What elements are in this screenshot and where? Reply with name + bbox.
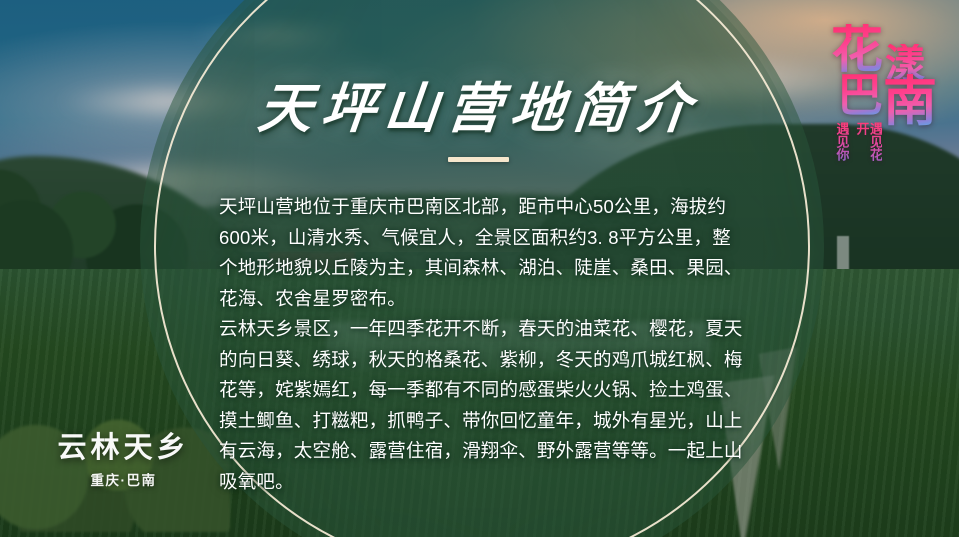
logo-subtitle-left: 遇见你	[835, 122, 849, 161]
page-title: 天坪山营地简介	[0, 64, 959, 143]
logo-char-nan: 南	[883, 74, 937, 128]
title-divider	[448, 157, 509, 162]
paragraph-2: 云林天乡景区，一年四季花开不断，春天的油菜花、樱花，夏天的向日葵、绣球，秋天的格…	[219, 314, 747, 497]
logo-subtitle-right: 遇见花开	[855, 122, 882, 166]
paragraph-1: 天坪山营地位于重庆市巴南区北部，距市中心50公里，海拔约600米，山清水秀、气候…	[219, 192, 747, 314]
slide-canvas: 天坪山营地简介 天坪山营地位于重庆市巴南区北部，距市中心50公里，海拔约600米…	[0, 0, 959, 537]
watermark-location: 重庆·巴南	[36, 469, 211, 489]
watermark-name: 云林天乡	[36, 424, 211, 466]
logo-char-ba: 巴	[837, 72, 883, 118]
description-body: 天坪山营地位于重庆市巴南区北部，距市中心50公里，海拔约600米，山清水秀、气候…	[219, 192, 747, 497]
brand-logo: 花 巴 漾 南 遇见你 遇见花开	[827, 18, 951, 166]
watermark: 云林天乡 重庆·巴南	[36, 424, 211, 489]
